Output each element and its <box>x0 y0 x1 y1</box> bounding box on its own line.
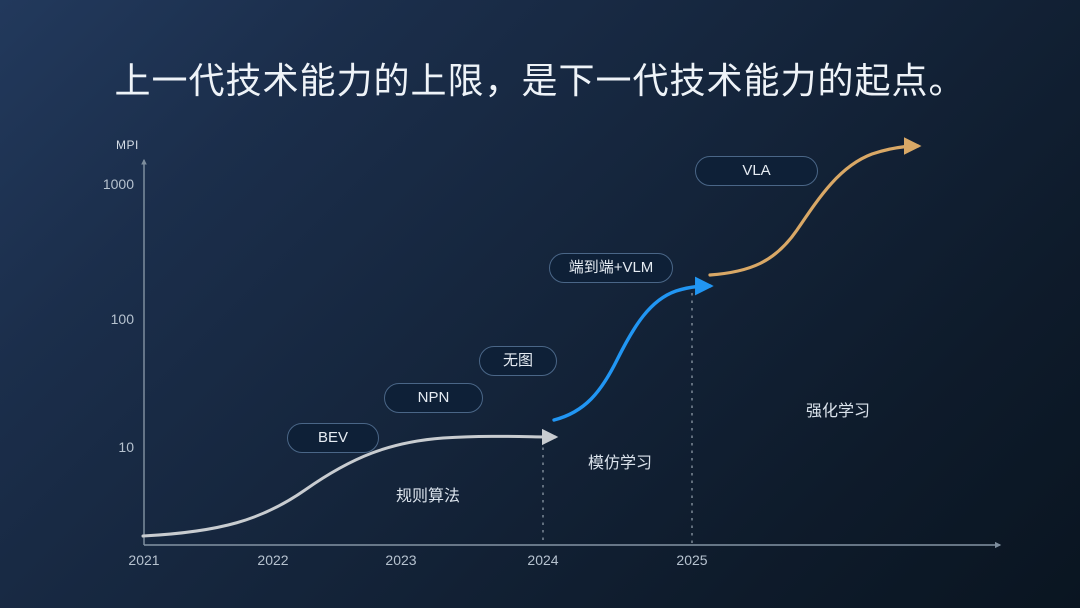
x-tick-2025: 2025 <box>668 552 716 568</box>
y-tick-10: 10 <box>78 439 134 455</box>
callout-pill-vla[interactable]: VLA <box>695 156 818 186</box>
x-tick-2024: 2024 <box>519 552 567 568</box>
technology-scurve-chart <box>0 0 1080 608</box>
stage-label-reinforcement-learning: 强化学习 <box>806 397 870 421</box>
curve-imitation-learning <box>554 286 710 420</box>
callout-pill-bev[interactable]: BEV <box>287 423 379 453</box>
callout-pill-wutu[interactable]: 无图 <box>479 346 557 376</box>
callout-pill-npn[interactable]: NPN <box>384 383 483 413</box>
y-tick-100: 100 <box>78 311 134 327</box>
y-tick-1000: 1000 <box>78 176 134 192</box>
stage-label-rule-algorithm: 规则算法 <box>396 482 460 506</box>
callout-pill-e2e-vlm[interactable]: 端到端+VLM <box>549 253 673 283</box>
stage-label-imitation-learning: 模仿学习 <box>588 449 652 473</box>
x-tick-2022: 2022 <box>249 552 297 568</box>
slide-canvas: 上一代技术能力的上限，是下一代技术能力的起点。 MPI <box>0 0 1080 608</box>
x-tick-2023: 2023 <box>377 552 425 568</box>
x-tick-2021: 2021 <box>120 552 168 568</box>
